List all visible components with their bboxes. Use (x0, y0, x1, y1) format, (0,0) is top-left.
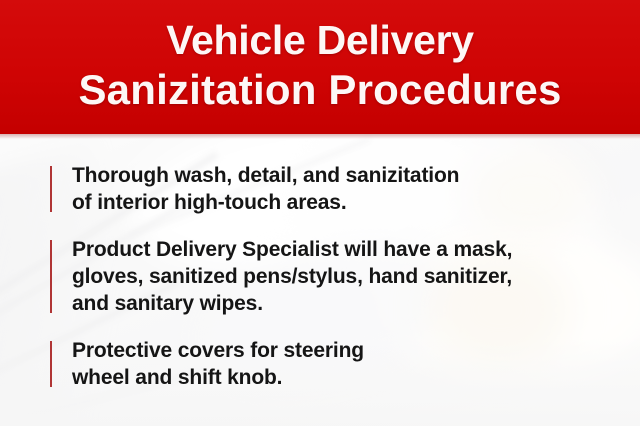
header-banner: Vehicle Delivery Sanizitation Procedures (0, 0, 640, 134)
procedures-list: Thorough wash, detail, and sanizitation … (50, 162, 620, 391)
list-item: Product Delivery Specialist will have a … (50, 236, 620, 317)
list-item: Thorough wash, detail, and sanizitation … (50, 162, 620, 216)
list-item: Protective covers for steering wheel and… (50, 337, 620, 391)
list-item-text: Protective covers for steering wheel and… (72, 337, 620, 391)
header-banner-shadow (0, 134, 640, 139)
bullet-bar-icon (50, 240, 52, 313)
bullet-bar-icon (50, 341, 52, 387)
page-title-line-2: Sanizitation Procedures (78, 65, 561, 115)
page-title-line-1: Vehicle Delivery (166, 15, 473, 65)
list-item-text: Product Delivery Specialist will have a … (72, 236, 620, 317)
sanitization-procedures-poster: Vehicle Delivery Sanizitation Procedures… (0, 0, 640, 426)
bullet-bar-icon (50, 166, 52, 212)
list-item-text: Thorough wash, detail, and sanizitation … (72, 162, 620, 216)
